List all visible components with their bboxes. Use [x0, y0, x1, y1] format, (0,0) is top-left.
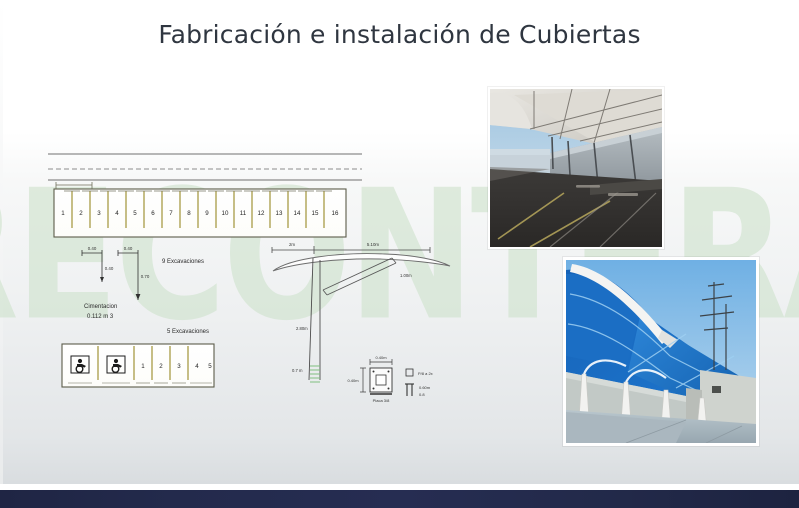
canopy-roof	[273, 254, 450, 271]
footer-bar	[0, 490, 799, 508]
elevation-dimension-line	[272, 246, 430, 254]
drawing-canvas: 1 2 3 4 5 6 7 8 9 10 11 12 13 14 15 16	[40, 140, 470, 410]
canopy-brace	[323, 258, 396, 295]
dim-label: 0.40	[105, 266, 114, 271]
excavations-top-label: 9 Excavaciones	[162, 259, 204, 265]
bay-label: 7	[169, 210, 173, 217]
excavations-bottom-label: 5 Excavaciones	[167, 329, 209, 335]
bolt-note-label: 0.60m	[419, 385, 431, 390]
bay-label: 4	[195, 363, 199, 370]
bay-label: 5	[133, 210, 137, 217]
photo-canopy-blue	[563, 257, 759, 446]
bay-label: 11	[240, 210, 247, 217]
dim-label: 0.7 m	[292, 368, 303, 373]
plan-top-dimension	[56, 182, 92, 189]
bay-label: 6	[151, 210, 155, 217]
bay-label: 2	[159, 363, 163, 370]
column-foundation	[310, 366, 320, 382]
canopy-elevation: 2m 5.10m	[272, 242, 450, 382]
dim-label: 0.40	[88, 246, 97, 251]
dim-label: 5.10m	[367, 242, 380, 247]
dim-label: 0.40m	[375, 355, 387, 360]
bay-label: 8	[187, 210, 191, 217]
photo-canopy-white	[488, 87, 664, 249]
bolt-note-label: 0.8	[419, 392, 425, 397]
foundation-dimension-labels: 0.40 0.40 0.40 0.70	[88, 246, 150, 279]
dim-label: 0.40	[124, 246, 133, 251]
dim-label: 0.40m	[347, 378, 359, 383]
bay-label: 1	[61, 210, 65, 217]
anchor-note-label: P/8 a 2x	[418, 371, 433, 376]
anchor-symbol	[406, 369, 413, 376]
bay-label: 4	[115, 210, 119, 217]
plan-16-bay-parking: 1 2 3 4 5 6 7 8 9 10 11 12 13 14 15 16	[54, 182, 346, 237]
bay-label: 10	[222, 210, 229, 217]
bolt-symbol	[405, 384, 414, 396]
bay-label: 15	[312, 210, 319, 217]
bay-label: 9	[205, 210, 209, 217]
bay-label: 3	[177, 363, 181, 370]
bay-label: 5	[208, 363, 212, 370]
page-title: Fabricación e instalación de Cubiertas	[0, 20, 799, 49]
dim-label: 2.80m	[296, 326, 308, 331]
dim-label: 2m	[289, 242, 295, 247]
bay-label: 1	[141, 363, 145, 370]
slide-left-edge	[0, 0, 3, 484]
bay-label: 16	[332, 210, 339, 217]
dim-label: 0.70	[141, 274, 150, 279]
bay-label: 13	[276, 210, 283, 217]
technical-drawing: 1 2 3 4 5 6 7 8 9 10 11 12 13 14 15 16	[40, 140, 470, 410]
dim-label: 1.00m	[400, 273, 412, 278]
plan-guide-lines	[48, 154, 362, 180]
bay-label: 14	[294, 210, 301, 217]
bay-label: 12	[258, 210, 265, 217]
plate-caption-label: Placa 3/8	[373, 398, 390, 403]
presentation-slide: RECONTERA Fabricación e instalación de C…	[0, 0, 799, 508]
foundation-title-label: Cimentacion	[84, 304, 117, 310]
base-plate-detail: 0.40m 0.40m Placa 3/8 P/8 a 2x 0.60m	[347, 355, 432, 403]
bay-label: 2	[79, 210, 83, 217]
canopy-column	[309, 258, 320, 380]
foundation-detail	[82, 250, 140, 300]
plan-accessible-parking: 1 2 3 4 5	[62, 344, 214, 387]
bay-label: 3	[97, 210, 101, 217]
foundation-value-label: 0.112 m 3	[87, 314, 114, 320]
